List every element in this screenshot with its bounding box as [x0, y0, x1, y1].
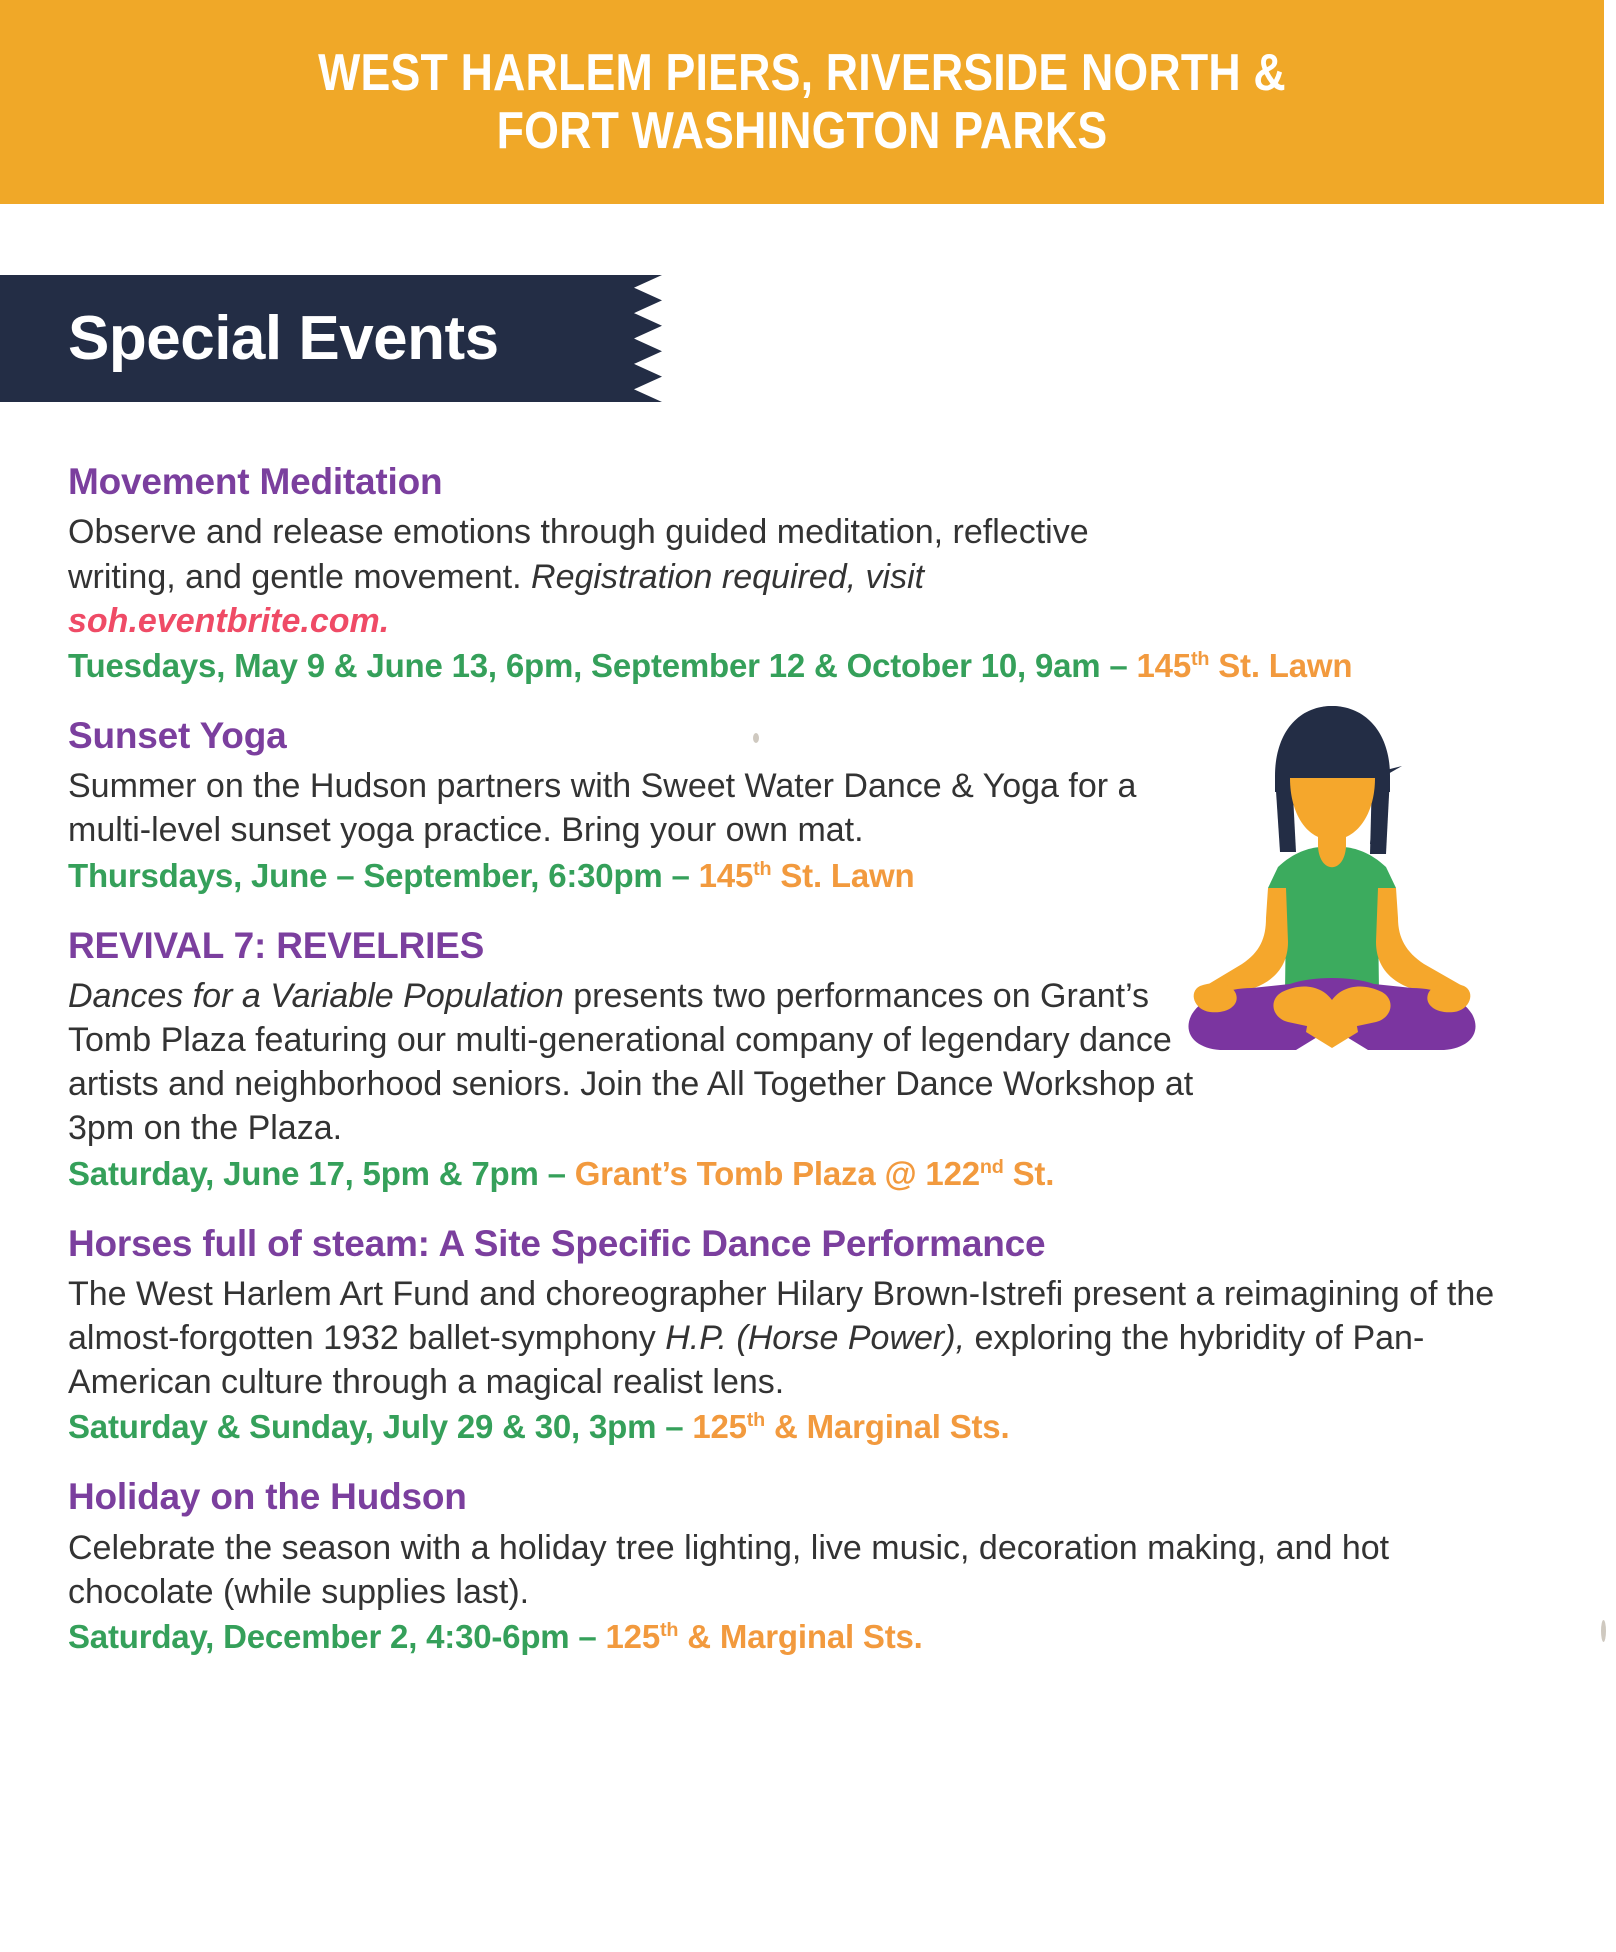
event-item: Movement Meditation Observe and release … [68, 460, 1544, 688]
event-title: Movement Meditation [68, 460, 1544, 504]
section-banner-label: Special Events [68, 275, 499, 402]
event-schedule-location: Saturday & Sunday, July 29 & 30, 3pm – 1… [68, 1406, 1544, 1449]
event-description: Summer on the Hudson partners with Sweet… [68, 764, 1148, 852]
event-schedule-location: Tuesdays, May 9 & June 13, 6pm, Septembe… [68, 645, 1544, 688]
event-schedule-location: Saturday, December 2, 4:30-6pm – 125th &… [68, 1616, 1544, 1659]
event-title: Horses full of steam: A Site Specific Da… [68, 1222, 1544, 1266]
event-schedule-location: Saturday, June 17, 5pm & 7pm – Grant’s T… [68, 1153, 1544, 1196]
event-description: Celebrate the season with a holiday tree… [68, 1526, 1498, 1614]
ribbon-zigzag-edge-icon [600, 275, 662, 402]
event-item: Sunset Yoga Summer on the Hudson partner… [68, 714, 1544, 898]
special-events-list: Movement Meditation Observe and release … [68, 460, 1544, 1685]
page-header-band: WEST HARLEM PIERS, RIVERSIDE NORTH & FOR… [0, 0, 1604, 204]
page-title: WEST HARLEM PIERS, RIVERSIDE NORTH & FOR… [260, 44, 1344, 160]
event-schedule-location: Thursdays, June – September, 6:30pm – 14… [68, 855, 1544, 898]
event-title: Sunset Yoga [68, 714, 1544, 758]
event-description: Observe and release emotions through gui… [68, 510, 1148, 643]
event-title: REVIVAL 7: REVELRIES [68, 924, 1544, 968]
event-item: Holiday on the Hudson Celebrate the seas… [68, 1475, 1544, 1659]
event-item: REVIVAL 7: REVELRIES Dances for a Variab… [68, 924, 1544, 1196]
section-banner: Special Events [0, 275, 660, 402]
event-description: The West Harlem Art Fund and choreograph… [68, 1272, 1498, 1405]
event-item: Horses full of steam: A Site Specific Da… [68, 1222, 1544, 1450]
event-description: Dances for a Variable Population present… [68, 974, 1228, 1151]
event-title: Holiday on the Hudson [68, 1475, 1544, 1519]
scan-speck [1601, 1620, 1606, 1642]
